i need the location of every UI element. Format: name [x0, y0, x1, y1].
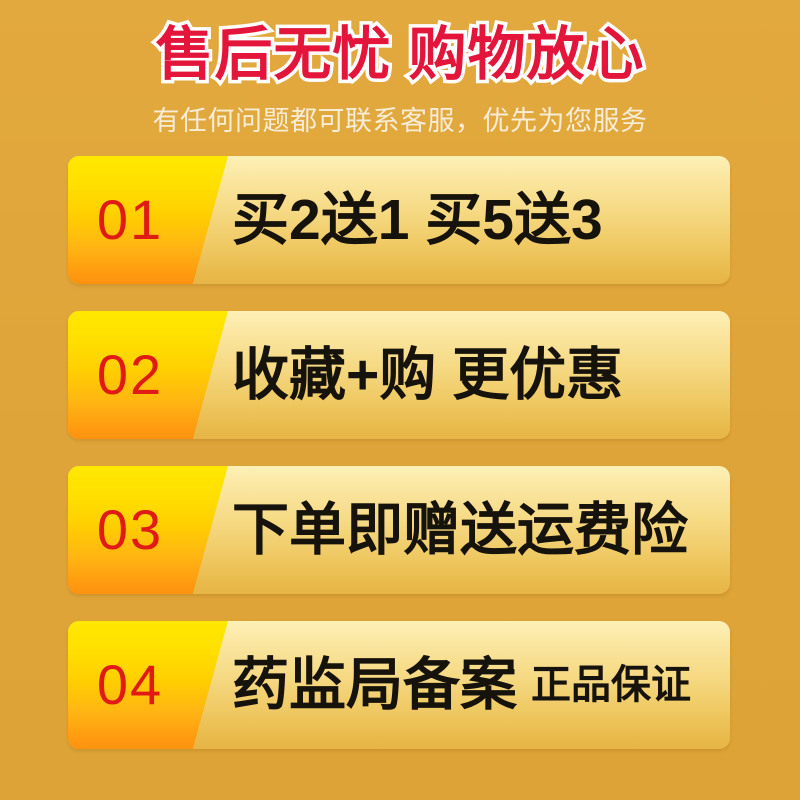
- benefit-text-group: 药监局备案 正品保证: [232, 621, 716, 749]
- benefit-number: 03: [68, 466, 192, 594]
- benefit-number-badge: 01: [68, 156, 228, 284]
- benefit-row: 04 药监局备案 正品保证: [68, 621, 730, 749]
- benefit-number-badge: 02: [68, 311, 228, 439]
- benefit-main-text: 下单即赠送运费险: [232, 499, 688, 561]
- benefit-number: 04: [68, 621, 192, 749]
- benefit-sub-text: 正品保证: [531, 663, 691, 707]
- benefit-list: 01 买2送1 买5送3 02 收藏+购 更优惠 03 下单即赠送运费险: [68, 156, 730, 749]
- benefit-row: 01 买2送1 买5送3: [68, 156, 730, 284]
- promotional-banner: 售后无忧 购物放心 有任何问题都可联系客服，优先为您服务 01 买2送1 买5送…: [0, 0, 800, 800]
- benefit-number: 01: [68, 156, 192, 284]
- headline-text: 售后无忧 购物放心: [0, 22, 800, 88]
- benefit-row: 02 收藏+购 更优惠: [68, 311, 730, 439]
- banner-header: 售后无忧 购物放心 有任何问题都可联系客服，优先为您服务: [0, 0, 800, 150]
- benefit-text-group: 收藏+购 更优惠: [232, 311, 716, 439]
- benefit-number: 02: [68, 311, 192, 439]
- benefit-main-text: 收藏+购 更优惠: [232, 344, 623, 406]
- benefit-main-text: 买2送1 买5送3: [232, 189, 603, 251]
- benefit-text-group: 下单即赠送运费险: [232, 466, 716, 594]
- subheadline-text: 有任何问题都可联系客服，优先为您服务: [0, 104, 800, 138]
- benefit-number-badge: 03: [68, 466, 228, 594]
- benefit-row: 03 下单即赠送运费险: [68, 466, 730, 594]
- benefit-main-text: 药监局备案: [232, 654, 517, 716]
- benefit-number-badge: 04: [68, 621, 228, 749]
- benefit-text-group: 买2送1 买5送3: [232, 156, 716, 284]
